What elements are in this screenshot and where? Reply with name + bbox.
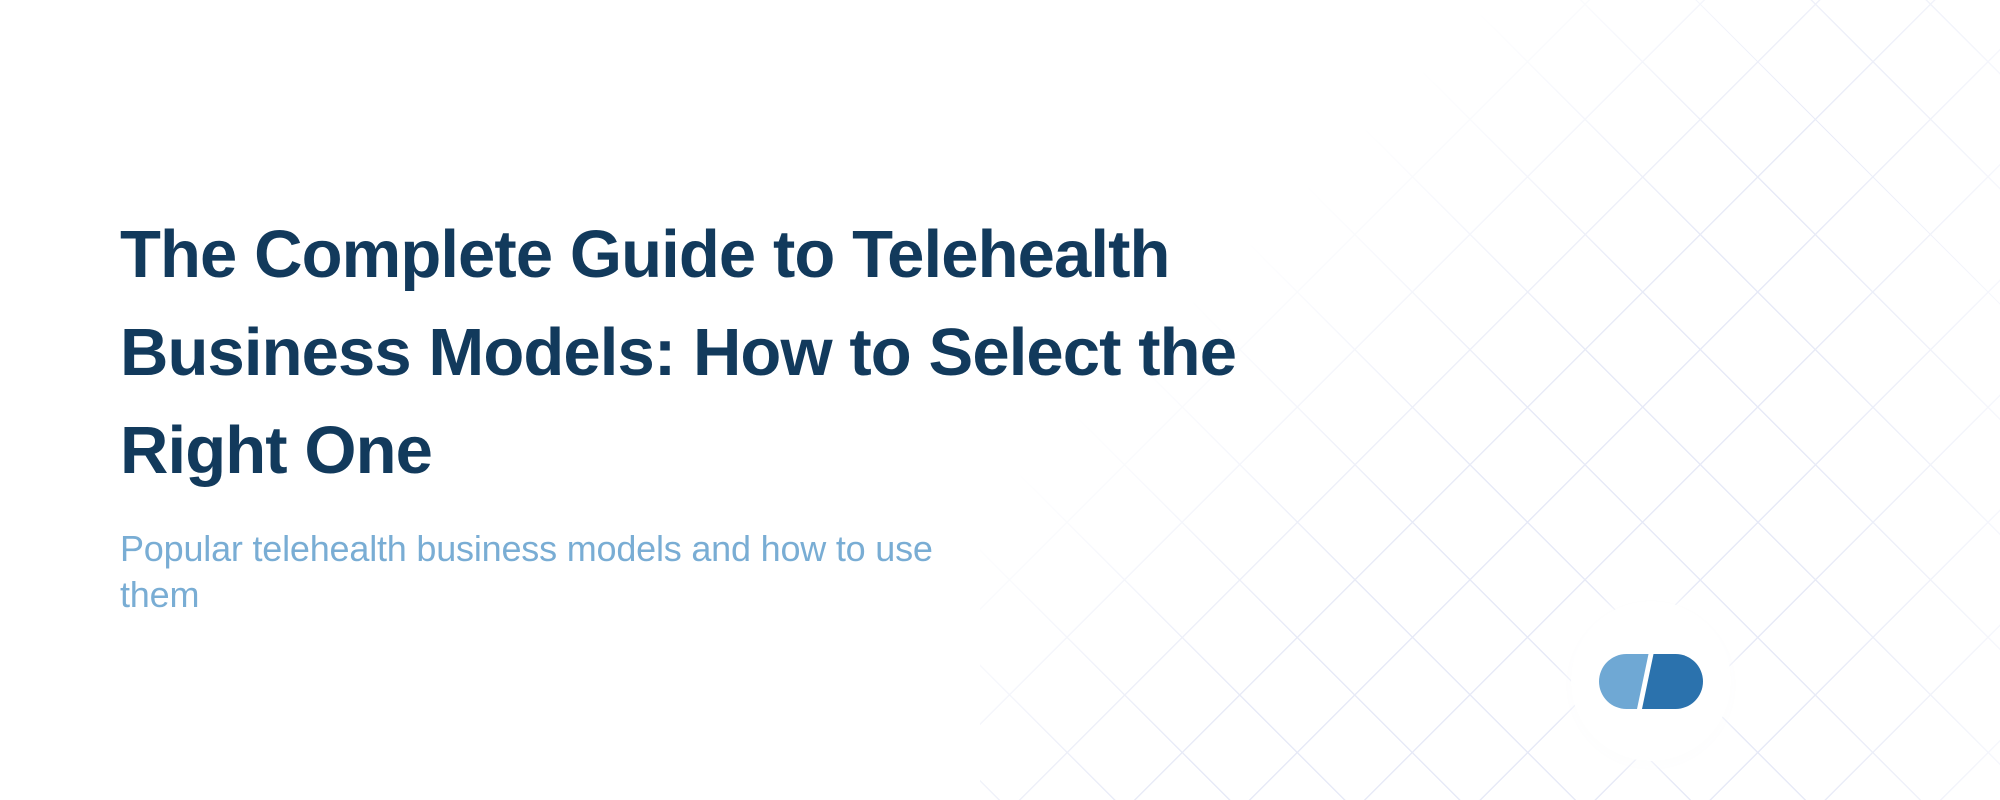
page-title: The Complete Guide to Telehealth Busines… [120,206,1395,500]
hero-banner: The Complete Guide to Telehealth Busines… [0,0,2000,800]
page-subtitle: Popular telehealth business models and h… [120,500,955,618]
hero-text-block: The Complete Guide to Telehealth Busines… [120,206,1420,618]
capsule-pill-logo-icon [1599,654,1703,709]
brand-logo-badge [1580,610,1722,752]
